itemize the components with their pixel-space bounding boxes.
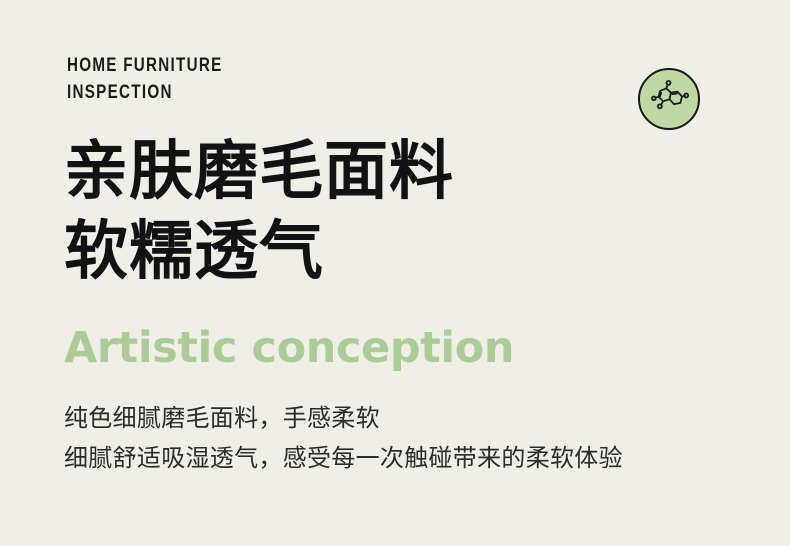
molecule-badge	[638, 68, 700, 130]
headline-line-1: 亲肤磨毛面料	[64, 132, 744, 212]
eyebrow-block: HOME FURNITURE INSPECTION	[67, 52, 487, 106]
subtitle-text: Artistic conception	[64, 322, 764, 374]
body-line-1: 纯色细腻磨毛面料，手感柔软	[64, 398, 764, 438]
eyebrow-line-1: HOME FURNITURE	[67, 52, 403, 79]
headline-line-2: 软糯透气	[64, 212, 744, 292]
molecule-icon	[649, 79, 689, 119]
body-copy-block: 纯色细腻磨毛面料，手感柔软 细腻舒适吸湿透气，感受每一次触碰带来的柔软体验	[64, 398, 764, 478]
body-line-2: 细腻舒适吸湿透气，感受每一次触碰带来的柔软体验	[64, 438, 764, 478]
page-title: 亲肤磨毛面料 软糯透气	[64, 132, 744, 292]
poster-canvas: HOME FURNITURE INSPECTION	[0, 0, 790, 546]
eyebrow-line-2: INSPECTION	[67, 79, 403, 106]
subtitle-block: Artistic conception	[64, 322, 764, 374]
